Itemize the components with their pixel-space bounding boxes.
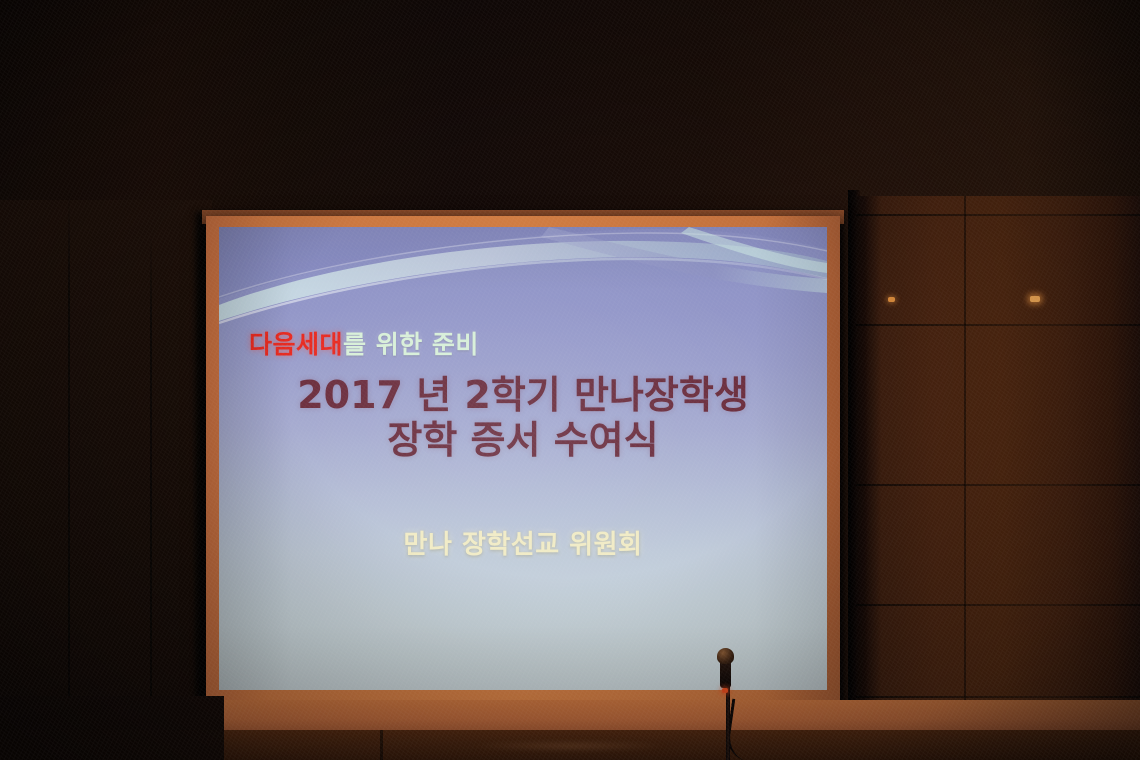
left-wall-panel [0, 200, 212, 760]
wall-indicator-light-icon [888, 297, 895, 302]
stage-front-left-shadow [0, 730, 224, 760]
wall-panel-seam [856, 484, 1140, 486]
slide-title-line-2: 장학 증서 수여식 [219, 418, 827, 463]
microphone-head-icon[interactable] [717, 648, 734, 664]
wall-panel-seam [856, 696, 1140, 698]
slide-eyebrow: 다음세대를 위한 준비 [249, 325, 479, 361]
wall-panel-seam [150, 230, 152, 760]
stage-surface-highlight [470, 740, 670, 752]
wall-indicator-light-icon [1030, 296, 1040, 302]
wall-panel-seam [856, 604, 1140, 606]
slide-text-block: 다음세대를 위한 준비 2017 년 2학기 만나장학생 장학 증서 수여식 만… [219, 227, 827, 690]
wall-panel-seam [856, 214, 1140, 216]
wall-panel-seam [964, 196, 966, 760]
wall-panel-seam [68, 190, 70, 760]
projection-screen: 다음세대를 위한 준비 2017 년 2학기 만나장학생 장학 증서 수여식 만… [219, 227, 827, 690]
slide-organization: 만나 장학선교 위원회 [219, 524, 827, 561]
slide-title-line-1: 2017 년 2학기 만나장학생 [297, 373, 749, 417]
slide-title: 2017 년 2학기 만나장학생 장학 증서 수여식 [219, 373, 827, 463]
right-wall-panel [856, 196, 1140, 760]
wall-panel-seam [856, 324, 1140, 326]
slide-eyebrow-rest: 를 위한 준비 [343, 330, 479, 359]
stage-panel-seam [380, 730, 383, 760]
projected-slide: 다음세대를 위한 준비 2017 년 2학기 만나장학생 장학 증서 수여식 만… [219, 227, 827, 690]
slide-eyebrow-highlight: 다음세대 [249, 330, 343, 359]
stage-front-panel [224, 730, 1140, 760]
microphone-status-led-icon [722, 688, 728, 693]
auditorium-scene: 다음세대를 위한 준비 2017 년 2학기 만나장학생 장학 증서 수여식 만… [0, 0, 1140, 760]
